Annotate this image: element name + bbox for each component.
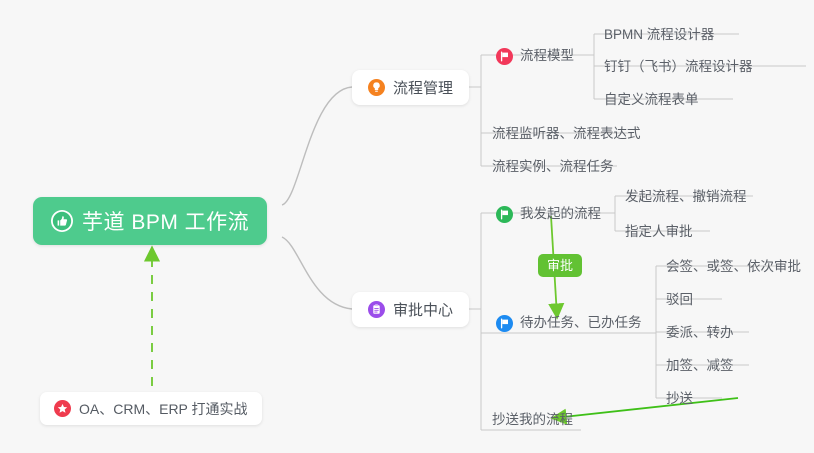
node-add-remove-sign-label: 加签、减签 (666, 355, 734, 377)
arrow-cc-to-ccflow (554, 398, 738, 418)
node-reject[interactable]: 驳回 (666, 289, 693, 311)
node-cc[interactable]: 抄送 (666, 388, 693, 410)
flag-green-icon (496, 206, 513, 223)
node-custom-process-form-label: 自定义流程表单 (604, 89, 699, 111)
node-my-initiated-label: 我发起的流程 (520, 203, 601, 225)
node-start-cancel[interactable]: 发起流程、撤销流程 (625, 186, 747, 208)
node-countersign[interactable]: 会签、或签、依次审批 (666, 256, 801, 278)
link-root-to-process-management (282, 87, 352, 205)
footer-node-label: OA、CRM、ERP 打通实战 (79, 399, 248, 419)
node-bpmn-designer[interactable]: BPMN 流程设计器 (604, 24, 714, 46)
branch-approval-center-label: 审批中心 (393, 299, 453, 320)
node-bpmn-designer-label: BPMN 流程设计器 (604, 24, 714, 46)
node-reject-label: 驳回 (666, 289, 693, 311)
clipboard-purple-icon (368, 301, 385, 318)
node-instance-task-label: 流程实例、流程任务 (492, 156, 614, 178)
root-node[interactable]: 芋道 BPM 工作流 (33, 197, 267, 245)
node-listener-expression-label: 流程监听器、流程表达式 (492, 123, 641, 145)
node-dingtalk-feishu-designer[interactable]: 钉钉（飞书）流程设计器 (604, 56, 753, 78)
node-listener-expression[interactable]: 流程监听器、流程表达式 (492, 123, 641, 145)
link-root-to-approval-center (282, 237, 352, 309)
lightbulb-pin-icon (368, 79, 385, 96)
node-instance-task[interactable]: 流程实例、流程任务 (492, 156, 614, 178)
node-process-model-label: 流程模型 (520, 45, 574, 67)
node-custom-process-form[interactable]: 自定义流程表单 (604, 89, 699, 111)
footer-node-integration-practice[interactable]: OA、CRM、ERP 打通实战 (40, 392, 262, 425)
root-label: 芋道 BPM 工作流 (82, 206, 249, 236)
node-todo-done-tasks-label: 待办任务、已办任务 (520, 312, 642, 334)
branch-approval-center[interactable]: 审批中心 (352, 292, 469, 327)
branch-process-management[interactable]: 流程管理 (352, 70, 469, 105)
node-my-initiated[interactable]: 我发起的流程 (496, 203, 601, 225)
node-todo-done-tasks[interactable]: 待办任务、已办任务 (496, 312, 642, 334)
flag-red-icon (496, 48, 513, 65)
node-delegate-transfer[interactable]: 委派、转办 (666, 322, 734, 344)
star-red-icon (54, 400, 71, 417)
mindmap-canvas: 芋道 BPM 工作流 流程管理 流程模型 流程监听器、流程表达式 流程实例、流程… (0, 0, 814, 453)
node-add-remove-sign[interactable]: 加签、减签 (666, 355, 734, 377)
approval-badge-label: 审批 (547, 258, 573, 273)
flag-blue-icon (496, 315, 513, 332)
node-process-model[interactable]: 流程模型 (496, 45, 574, 67)
node-assignee-approval-label: 指定人审批 (625, 221, 693, 243)
node-cc-label: 抄送 (666, 388, 693, 410)
branch-process-management-label: 流程管理 (393, 77, 453, 98)
approval-badge[interactable]: 审批 (538, 254, 582, 277)
thumbs-up-icon (51, 210, 73, 232)
node-start-cancel-label: 发起流程、撤销流程 (625, 186, 747, 208)
node-delegate-transfer-label: 委派、转办 (666, 322, 734, 344)
node-dingtalk-feishu-designer-label: 钉钉（飞书）流程设计器 (604, 56, 753, 78)
node-cc-to-me-label: 抄送我的流程 (492, 409, 573, 431)
node-cc-to-me[interactable]: 抄送我的流程 (492, 409, 573, 431)
node-assignee-approval[interactable]: 指定人审批 (625, 221, 693, 243)
node-countersign-label: 会签、或签、依次审批 (666, 256, 801, 278)
